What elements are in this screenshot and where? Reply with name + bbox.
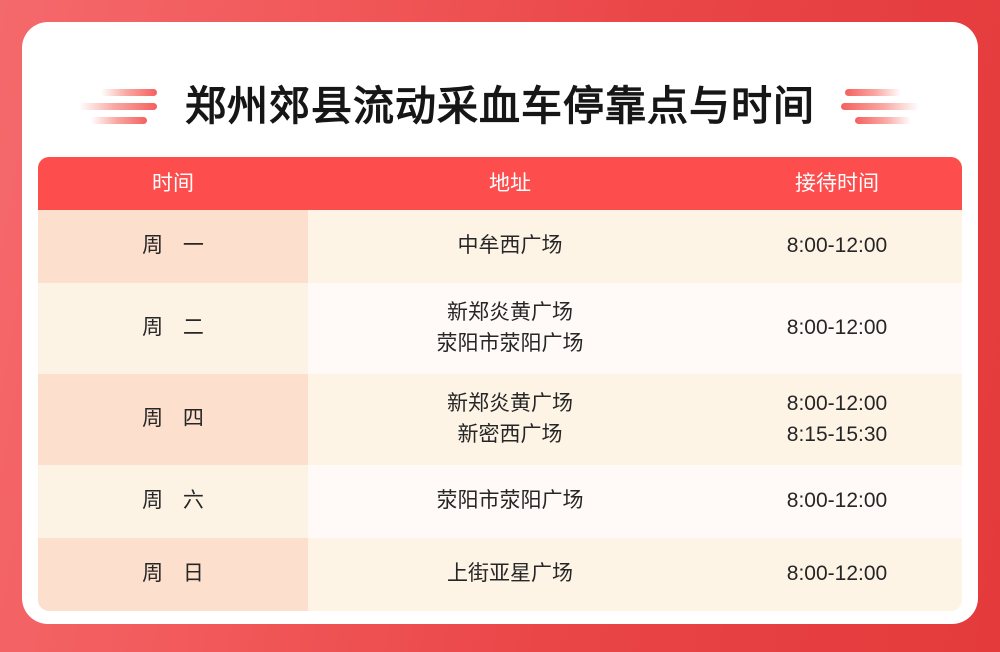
time-line: 8:00-12:00 <box>787 389 887 419</box>
triple-stripe-left-icon <box>79 84 159 128</box>
time-line: 8:00-12:00 <box>787 313 887 343</box>
address-line: 新密西广场 <box>458 420 563 450</box>
table-row: 周 六 荥阳市荥阳广场 8:00-12:00 <box>38 465 962 538</box>
cell-day: 周 六 <box>38 465 308 538</box>
address-line: 上街亚星广场 <box>447 559 573 589</box>
cell-reception-time: 8:00-12:00 <box>712 210 962 283</box>
day-label: 周 六 <box>135 486 211 516</box>
table-header-row: 时间 地址 接待时间 <box>38 157 962 210</box>
cell-day: 周 四 <box>38 374 308 465</box>
time-line: 8:00-12:00 <box>787 486 887 516</box>
cell-reception-time: 8:00-12:00 <box>712 465 962 538</box>
cell-address: 中牟西广场 <box>308 210 712 283</box>
time-line: 8:00-12:00 <box>787 231 887 261</box>
table-row: 周 一 中牟西广场 8:00-12:00 <box>38 210 962 283</box>
cell-reception-time: 8:00-12:00 <box>712 538 962 611</box>
cell-address: 上街亚星广场 <box>308 538 712 611</box>
time-line: 8:00-12:00 <box>787 559 887 589</box>
cell-address: 新郑炎黄广场 荥阳市荥阳广场 <box>308 283 712 374</box>
day-label: 周 日 <box>135 559 211 589</box>
title-row: 郑州郊县流动采血车停靠点与时间 <box>22 74 978 138</box>
address-line: 荥阳市荥阳广场 <box>437 486 584 516</box>
address-line: 新郑炎黄广场 <box>447 389 573 419</box>
column-header-reception: 接待时间 <box>712 173 962 194</box>
address-line: 中牟西广场 <box>458 231 563 261</box>
cell-address: 新郑炎黄广场 新密西广场 <box>308 374 712 465</box>
cell-day: 周 一 <box>38 210 308 283</box>
day-label: 周 一 <box>135 231 211 261</box>
address-line: 新郑炎黄广场 <box>447 298 573 328</box>
time-line: 8:15-15:30 <box>787 420 887 450</box>
cell-reception-time: 8:00-12:00 8:15-15:30 <box>712 374 962 465</box>
cell-address: 荥阳市荥阳广场 <box>308 465 712 538</box>
page-title: 郑州郊县流动采血车停靠点与时间 <box>185 86 815 127</box>
column-header-address: 地址 <box>308 173 712 194</box>
cell-reception-time: 8:00-12:00 <box>712 283 962 374</box>
day-label: 周 二 <box>135 313 211 343</box>
day-label: 周 四 <box>135 404 211 434</box>
cell-day: 周 二 <box>38 283 308 374</box>
poster-background: 郑州郊县流动采血车停靠点与时间 时间 地址 接待时间 周 一 中牟西广场 <box>0 0 1000 652</box>
triple-stripe-right-icon <box>841 84 921 128</box>
table-row: 周 日 上街亚星广场 8:00-12:00 <box>38 538 962 611</box>
table-row: 周 四 新郑炎黄广场 新密西广场 8:00-12:00 8:15-15:30 <box>38 374 962 465</box>
column-header-time: 时间 <box>38 173 308 194</box>
table-row: 周 二 新郑炎黄广场 荥阳市荥阳广场 8:00-12:00 <box>38 283 962 374</box>
schedule-table: 时间 地址 接待时间 周 一 中牟西广场 8:00-12:00 周 二 <box>38 157 962 611</box>
cell-day: 周 日 <box>38 538 308 611</box>
content-card: 郑州郊县流动采血车停靠点与时间 时间 地址 接待时间 周 一 中牟西广场 <box>22 22 978 624</box>
address-line: 荥阳市荥阳广场 <box>437 329 584 359</box>
